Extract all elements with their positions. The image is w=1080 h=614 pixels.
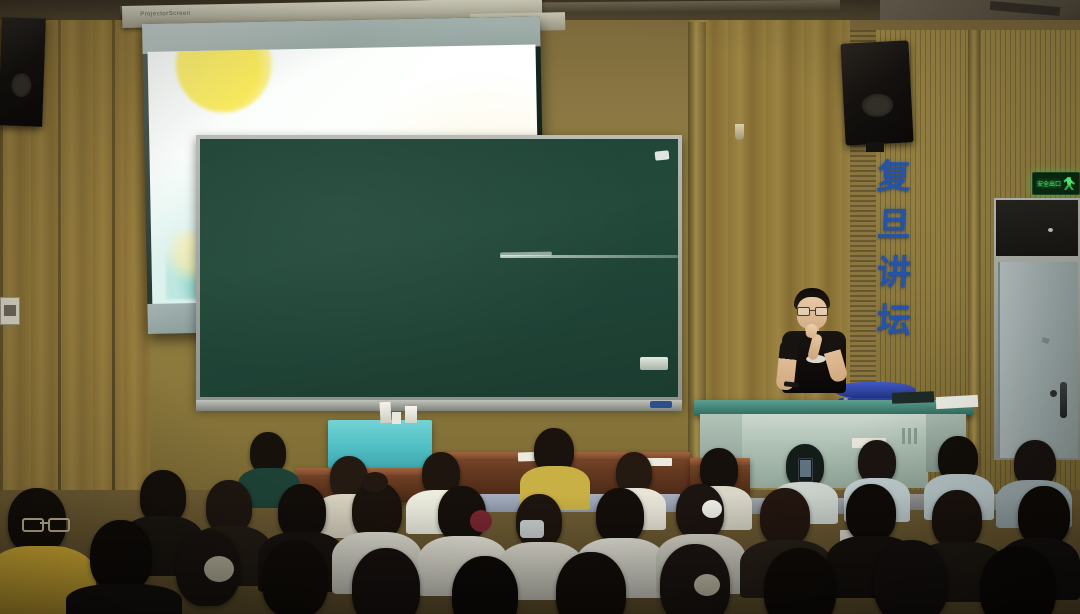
speaker-cone-icon <box>11 73 32 97</box>
presenter-figure <box>772 288 858 408</box>
speaker-cone-icon <box>861 93 893 117</box>
audience-body <box>66 584 182 614</box>
eyeglasses-icon <box>22 518 68 528</box>
audience-head <box>760 488 810 546</box>
audience-head <box>1018 486 1070 546</box>
hair-scrunchie <box>694 574 720 596</box>
wood-seam <box>58 20 61 490</box>
wall-speaker-left <box>0 17 46 126</box>
wall-pillar-right <box>968 30 980 490</box>
sun-decoration-icon <box>175 44 273 113</box>
wall-lamp-icon <box>735 124 744 140</box>
calligraphy-char-1: 复 <box>876 160 912 194</box>
chalk-eraser-icon[interactable] <box>640 357 668 370</box>
door-transom-window <box>996 200 1078 256</box>
magnet-clip-icon[interactable] <box>655 150 670 160</box>
transom-reflection <box>1048 228 1053 232</box>
audience-head <box>764 548 836 614</box>
audience-head <box>980 546 1056 614</box>
audience-head <box>90 520 152 592</box>
podium-body <box>742 414 928 488</box>
face-mask-icon <box>520 520 544 538</box>
audience-head <box>352 548 420 614</box>
hair-scrunchie <box>204 556 234 582</box>
screen-brand-label: ProjectorScreen <box>140 11 191 18</box>
running-person-icon <box>1063 177 1075 190</box>
audience-head <box>846 484 896 542</box>
audience-head <box>932 490 982 548</box>
tissue-box-icon[interactable] <box>379 402 391 424</box>
eyeglasses-icon <box>797 307 827 314</box>
hair-bun <box>362 472 388 492</box>
door-lock-icon[interactable] <box>1050 390 1057 397</box>
wood-seam <box>112 20 115 490</box>
audience-head <box>874 540 948 614</box>
wall-speaker-right <box>840 40 913 145</box>
emergency-exit-sign: 安全出口 <box>1032 172 1080 195</box>
audience-head <box>596 488 644 544</box>
tray-item-blue[interactable] <box>650 401 672 408</box>
blackboard-frame <box>196 135 682 407</box>
chalk-tray <box>196 400 682 411</box>
calligraphy-char-2: 旦 <box>876 208 912 242</box>
blackboard-surface <box>200 139 678 397</box>
audience-head <box>262 540 328 614</box>
podium-dark-object[interactable] <box>892 391 934 403</box>
wall-outlet[interactable] <box>0 297 20 325</box>
speaker-mount-bracket <box>866 142 884 152</box>
calligraphy-char-4: 坛 <box>876 304 912 338</box>
exit-door[interactable] <box>998 262 1078 458</box>
lecture-hall-scene: ProjectorScreen 团委学生会 STUDENT UNION 工作说明… <box>0 0 1080 614</box>
hair-bun-red <box>470 510 492 532</box>
wall-calligraphy: 复 旦 讲 坛 <box>862 160 926 338</box>
podium-paper-sheet[interactable] <box>936 395 979 409</box>
smartphone-icon[interactable] <box>798 458 813 482</box>
white-carton-icon[interactable] <box>392 412 401 424</box>
hair-scrunchie <box>702 500 722 518</box>
calligraphy-char-3: 讲 <box>876 256 912 290</box>
exit-sign-label: 安全出口 <box>1037 179 1061 188</box>
door-handle[interactable] <box>1060 382 1067 418</box>
chalk-box-icon[interactable] <box>405 406 417 423</box>
